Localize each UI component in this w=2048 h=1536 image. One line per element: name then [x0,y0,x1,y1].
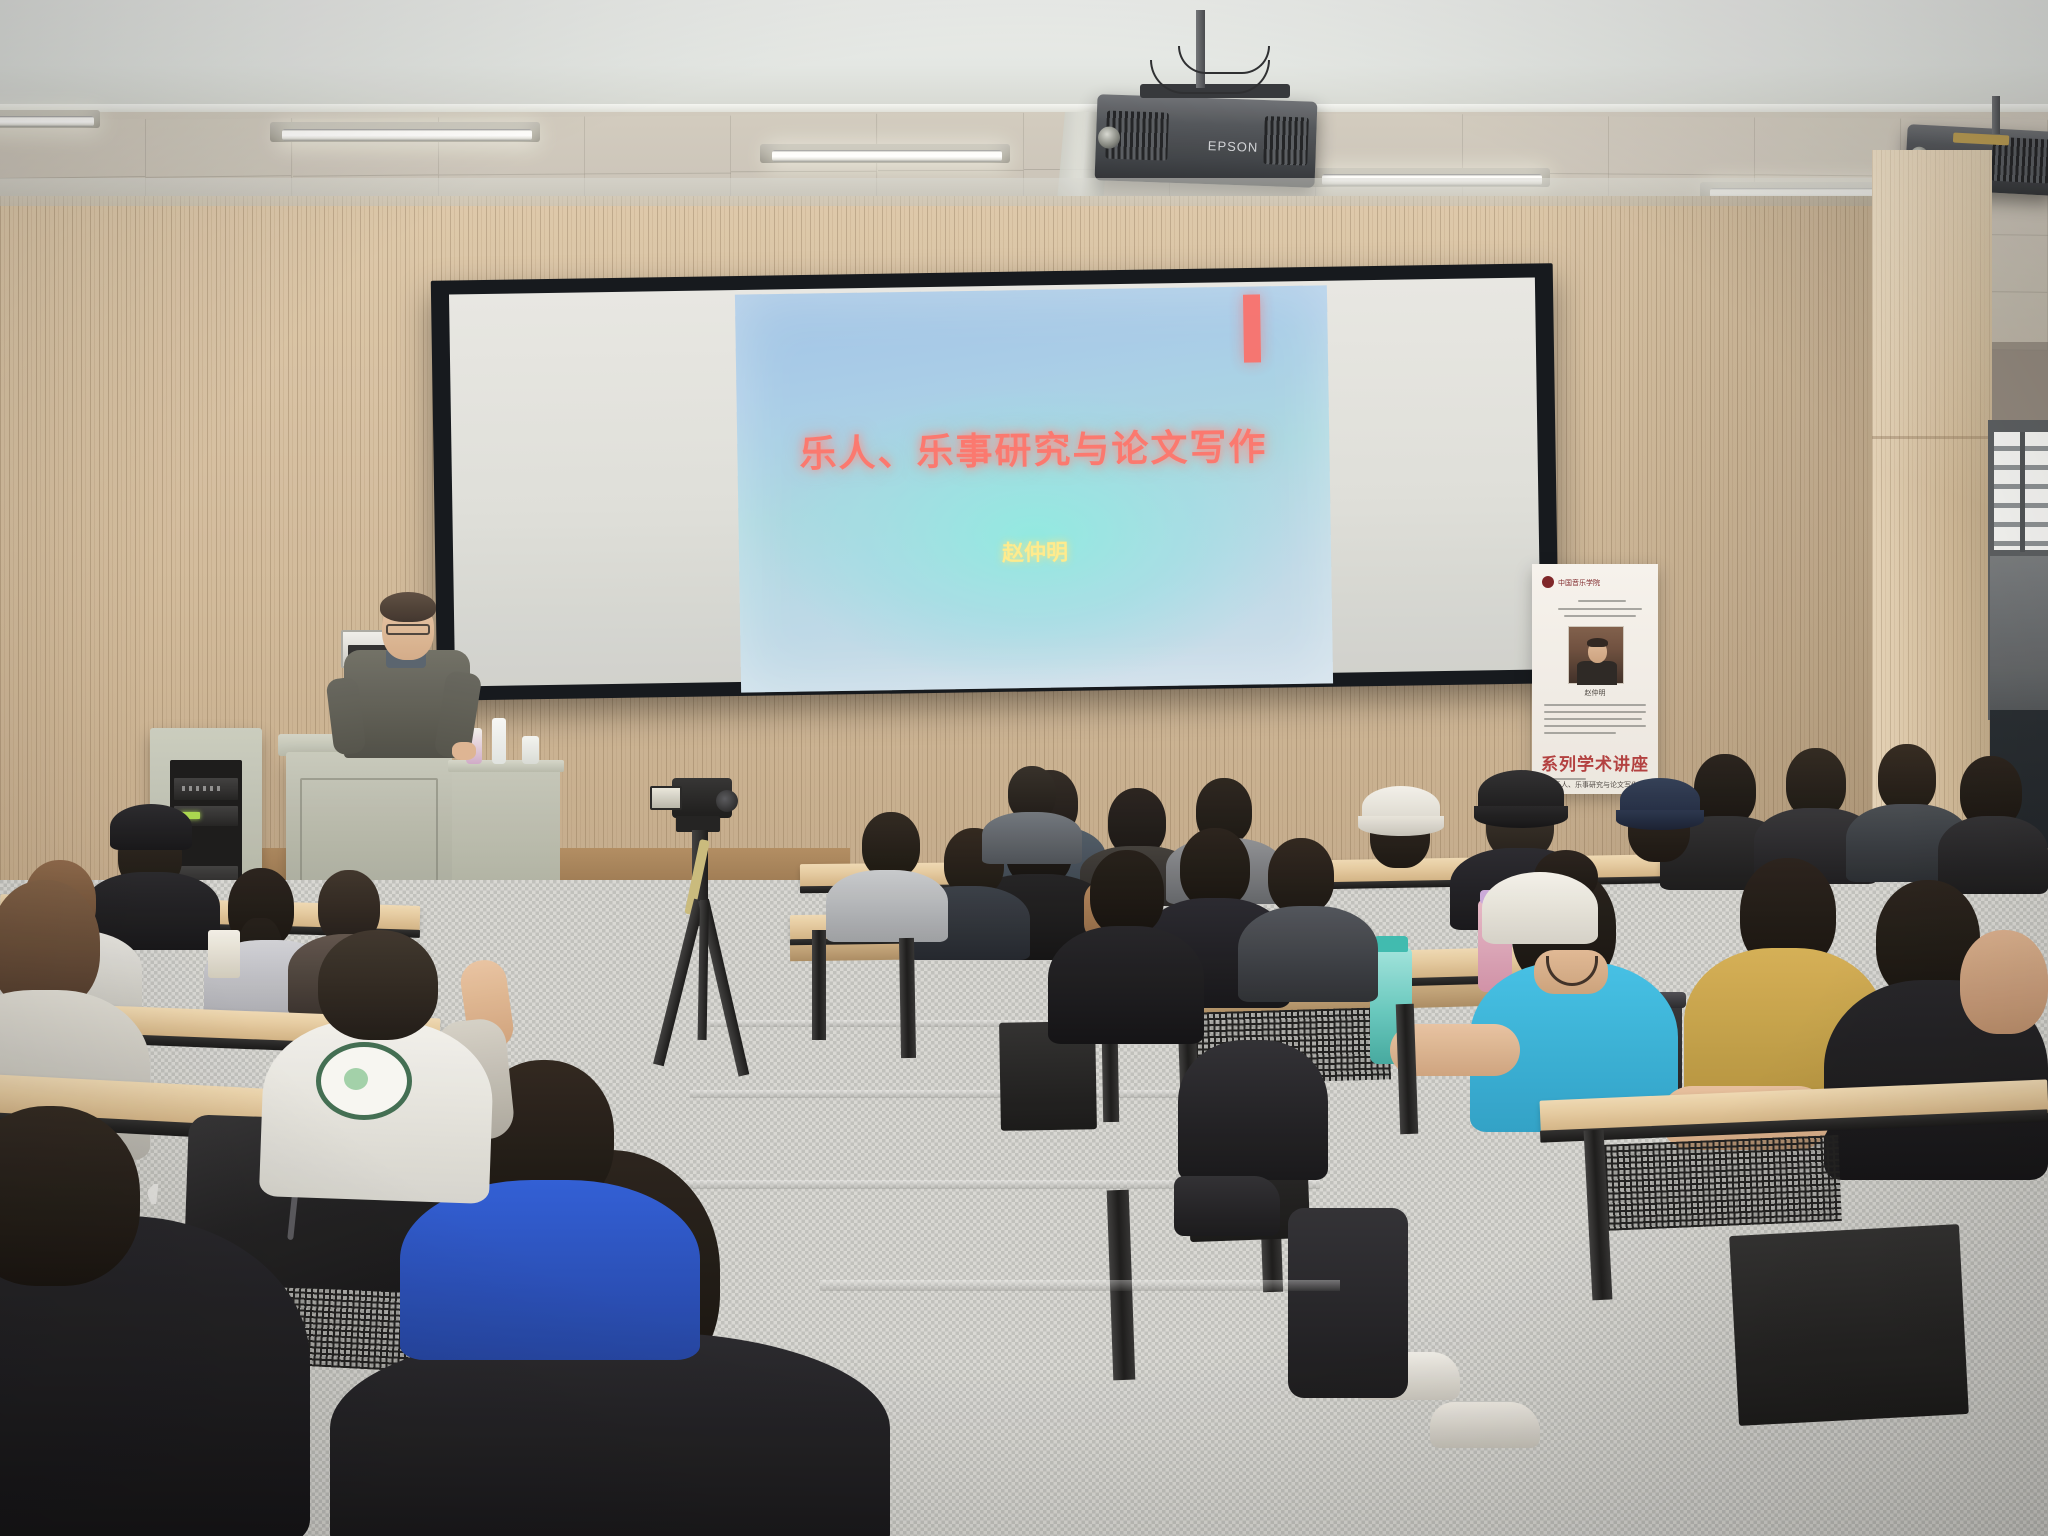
lecture-hall-photo: EPSON 乐人、乐事研究与论文写作 赵仲明 [0,0,2048,1536]
banner-org-mark: 中国音乐学院 [1558,578,1600,588]
banner-body-5 [1544,732,1616,734]
ceiling-light-1 [282,129,532,141]
cap-cream-teal-top [1482,872,1598,944]
lecture-banner: 中国音乐学院 赵仲明 系列学术讲座 乐人、乐事研究与论文写作 [1532,564,1658,794]
projector-vent-right [1263,116,1309,166]
av-unit-top-buttons [182,786,222,791]
projector-right-rod [1992,96,2000,134]
shoe-white-2 [1430,1402,1540,1448]
person-body-c3 [826,870,948,942]
person-head-white-tee [318,930,438,1040]
person-body-c4 [982,812,1082,864]
bottle-water-1 [492,718,506,764]
ceiling-tile [0,119,146,178]
banner-speaker-name: 赵仲明 [1532,688,1658,698]
banner-body-3 [1544,718,1642,720]
banner-speaker-photo [1568,626,1624,684]
cap-black-brim [1474,806,1568,828]
person-head-r3 [1878,744,1936,812]
slide-author: 赵仲明 [739,530,1331,571]
banner-photo-suit [1577,661,1617,685]
banner-subline-3 [1564,615,1636,617]
chair-back-2 [1729,1224,1969,1426]
projector-brand-label: EPSON [1208,138,1259,155]
banner-photo-hair [1587,638,1608,647]
ceiling-tile [1463,115,1609,173]
person-body-m3 [1048,926,1204,1044]
camera-flip-screen [650,786,682,810]
projected-slide: 乐人、乐事研究与论文写作 赵仲明 [735,285,1333,692]
bottle-water-2 [522,736,539,764]
ceiling-light-5 [0,116,94,127]
speaker-hand [452,742,476,760]
cap-black-left [110,804,192,850]
side-table-top [448,760,564,772]
banner-subline-1 [1578,600,1626,602]
ceiling-tile [1609,116,1755,175]
speaker-glasses [386,624,430,635]
slide-accent-bar [1243,294,1261,362]
boot-dark [1174,1176,1280,1236]
ceiling-tile [585,115,731,173]
ceiling-tile [1317,114,1463,172]
person-head-m3 [1090,850,1164,936]
banner-body-2 [1544,711,1646,713]
slide-title: 乐人、乐事研究与论文写作 [737,415,1330,478]
trouser-leg [1288,1208,1408,1398]
tshirt-graphic-dot [344,1068,368,1090]
person-body-aisle [1178,1040,1328,1180]
ceiling-soffit [0,0,2048,118]
person-body-r4 [1938,816,2048,894]
banner-logo-mark [1542,576,1554,588]
cap-cream-brim [1358,816,1444,836]
window-roller-blind [1990,556,2048,716]
projector-center: EPSON [1095,94,1318,188]
water-bottle-teal-cap [1374,936,1408,952]
banner-headline: 系列学术讲座 [1532,750,1658,775]
banner-subline-2 [1558,608,1642,610]
ceiling-light-2 [772,150,1002,162]
person-body-fg-blue [400,1180,700,1360]
window-mullion [2020,432,2025,552]
desk-basket-rf2 [1598,1135,1841,1231]
cup-white-left [208,930,240,978]
person-head-rf-dark2 [1960,930,2048,1034]
person-head-m1 [1180,828,1250,908]
floor-step-4 [820,1280,1340,1291]
camera-lens [716,790,738,812]
cap-navy-brim [1616,810,1704,830]
person-body-fg-center [330,1332,890,1536]
person-body-m2 [1238,906,1378,1002]
person-head-m2 [1268,838,1334,914]
desk-leg-6 [812,930,826,1040]
banner-body-4 [1544,725,1646,727]
person-head-c3 [862,812,920,878]
desk-leg-5 [899,938,916,1058]
banner-body-1 [1544,704,1646,706]
speaker-hair [380,592,436,622]
projector-cable-2 [1178,46,1270,74]
